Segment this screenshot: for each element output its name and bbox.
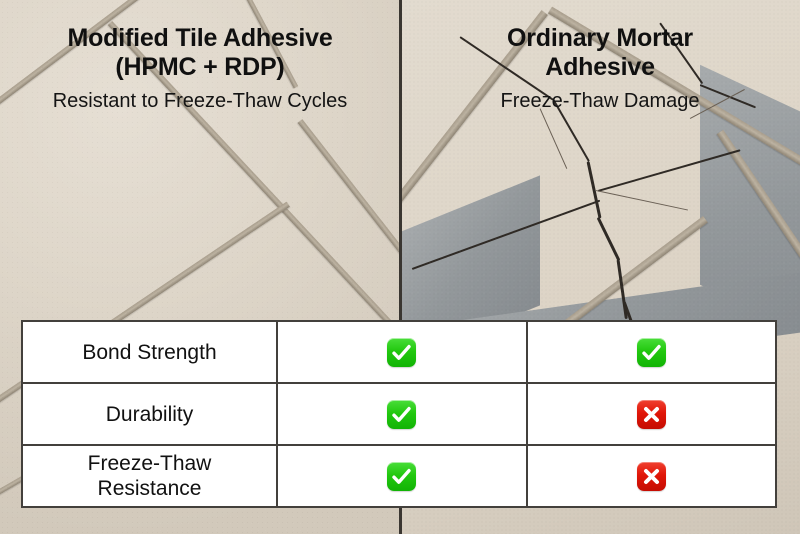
modified-adhesive-cell: [278, 322, 528, 382]
right-panel-heading-group: Ordinary Mortar Adhesive Freeze-Thaw Dam…: [400, 0, 800, 113]
left-panel-subtitle: Resistant to Freeze-Thaw Cycles: [0, 82, 400, 113]
right-panel-subtitle: Freeze-Thaw Damage: [400, 82, 800, 113]
ordinary-mortar-cell: [528, 322, 776, 382]
comparison-table: Bond Strength Durability: [21, 320, 777, 508]
check-icon: [387, 400, 416, 429]
check-icon: [637, 338, 666, 367]
property-label-cell: Bond Strength: [23, 322, 278, 382]
table-row: Freeze-Thaw Resistance: [23, 446, 775, 506]
cross-icon: [637, 462, 666, 491]
property-label-line1: Freeze-Thaw: [88, 452, 212, 475]
check-icon: [387, 462, 416, 491]
ordinary-mortar-cell: [528, 446, 776, 506]
check-icon: [387, 338, 416, 367]
right-panel-title: Ordinary Mortar Adhesive: [400, 0, 800, 82]
property-label: Freeze-Thaw Resistance: [88, 451, 212, 501]
property-label-line2: Resistance: [98, 477, 202, 500]
left-panel-title-line1: Modified Tile Adhesive: [67, 24, 332, 52]
cross-icon: [637, 400, 666, 429]
property-label-cell: Freeze-Thaw Resistance: [23, 446, 278, 506]
property-label: Bond Strength: [82, 340, 216, 365]
property-label-cell: Durability: [23, 384, 278, 444]
left-panel-title-line2: (HPMC + RDP): [115, 53, 284, 81]
property-label: Durability: [106, 402, 194, 427]
right-panel-title-line1: Ordinary Mortar: [507, 24, 693, 52]
modified-adhesive-cell: [278, 446, 528, 506]
right-panel-title-line2: Adhesive: [545, 53, 655, 81]
table-row: Durability: [23, 384, 775, 446]
left-panel-title: Modified Tile Adhesive (HPMC + RDP): [0, 0, 400, 82]
comparison-infographic: Modified Tile Adhesive (HPMC + RDP) Resi…: [0, 0, 800, 534]
table-row: Bond Strength: [23, 322, 775, 384]
modified-adhesive-cell: [278, 384, 528, 444]
ordinary-mortar-cell: [528, 384, 776, 444]
left-panel-heading-group: Modified Tile Adhesive (HPMC + RDP) Resi…: [0, 0, 400, 113]
